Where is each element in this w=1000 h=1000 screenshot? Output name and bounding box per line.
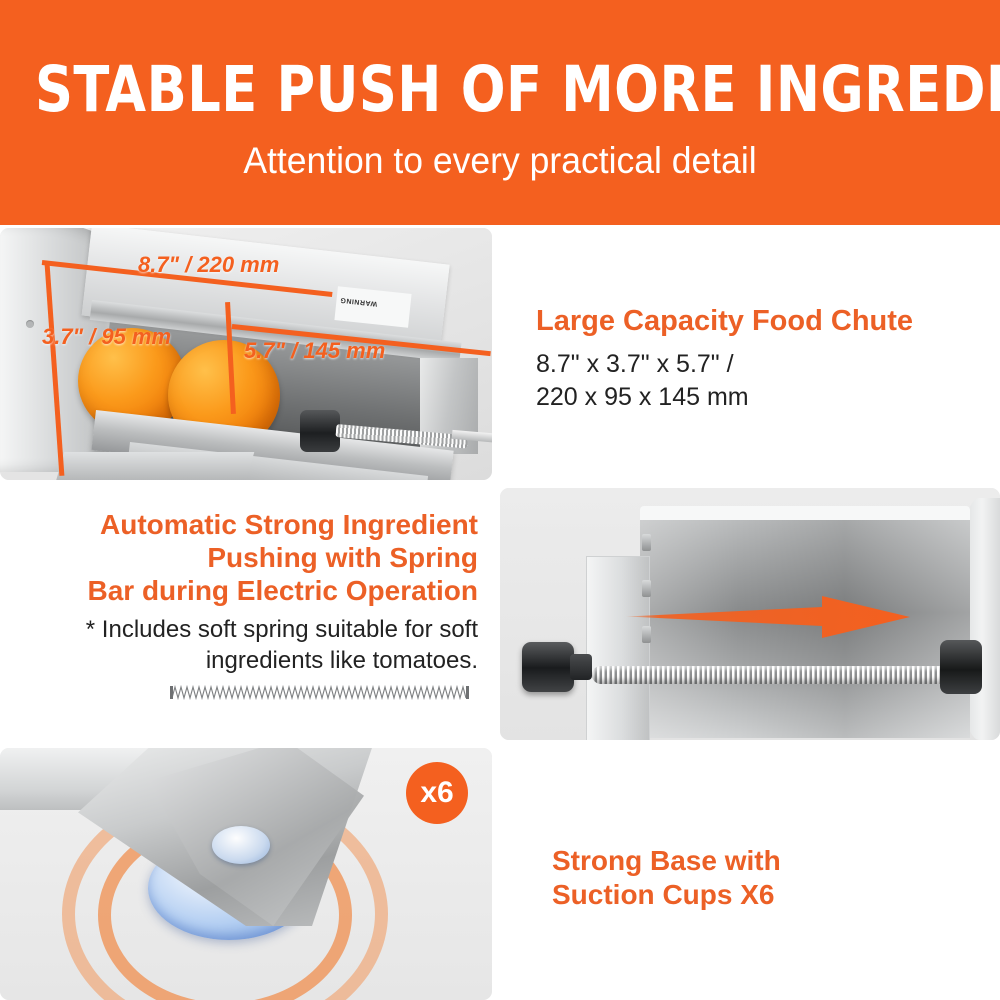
hinge-bracket	[642, 580, 651, 597]
spring-pushing-heading: Automatic Strong Ingredient Pushing with…	[14, 508, 478, 607]
suction-cup-photo: x6	[0, 748, 492, 1000]
heading-line-3: Bar during Electric Operation	[14, 574, 478, 607]
height-label: 5.7" / 145 mm	[244, 338, 385, 364]
knob-shaft	[570, 654, 592, 680]
adjustment-knob	[522, 642, 574, 692]
hinge-bracket	[642, 534, 651, 551]
food-chute-heading: Large Capacity Food Chute	[536, 304, 913, 338]
heading-line-1: Strong Base with	[552, 844, 781, 878]
quantity-badge: x6	[406, 762, 468, 824]
black-knob	[300, 410, 340, 452]
suction-base-text: Strong Base with Suction Cups X6	[500, 748, 1000, 1000]
page-subtitle: Attention to every practical detail	[20, 140, 980, 182]
food-chute-text: Large Capacity Food Chute 8.7" x 3.7" x …	[500, 228, 1000, 480]
length-label: 8.7" / 220 mm	[138, 252, 279, 278]
food-chute-specs: 8.7" x 3.7" x 5.7" / 220 x 95 x 145 mm	[536, 348, 749, 414]
food-chute-photo: WARNING 8.7" / 220 mm 3.7" / 95 mm 5.7" …	[0, 228, 492, 480]
spec-line-imperial: 8.7" x 3.7" x 5.7" /	[536, 348, 749, 381]
end-knob	[940, 640, 982, 694]
spec-line-metric: 220 x 95 x 145 mm	[536, 381, 749, 414]
heading-line-2: Pushing with Spring	[14, 541, 478, 574]
suction-cup-nipple	[212, 826, 270, 864]
note-line-2: ingredients like tomatoes.	[40, 645, 478, 676]
page-title: STABLE PUSH OF MORE INGREDIENTS	[35, 58, 965, 122]
width-label: 3.7" / 95 mm	[42, 324, 171, 350]
spring-screw-rod	[592, 666, 950, 684]
machine-base	[56, 452, 255, 480]
soft-spring-image	[170, 682, 470, 704]
heading-line-1: Automatic Strong Ingredient	[14, 508, 478, 541]
push-direction-arrow	[626, 596, 910, 638]
front-plate	[586, 556, 650, 740]
spring-pushing-note: * Includes soft spring suitable for soft…	[40, 614, 478, 676]
note-line-1: * Includes soft spring suitable for soft	[40, 614, 478, 645]
header-banner: STABLE PUSH OF MORE INGREDIENTS Attentio…	[0, 0, 1000, 225]
heading-line-2: Suction Cups X6	[552, 878, 781, 912]
spring-bar-photo	[500, 488, 1000, 740]
infographic-page: STABLE PUSH OF MORE INGREDIENTS Attentio…	[0, 0, 1000, 1000]
spring-pushing-text: Automatic Strong Ingredient Pushing with…	[0, 486, 492, 740]
suction-base-heading: Strong Base with Suction Cups X6	[552, 844, 781, 912]
